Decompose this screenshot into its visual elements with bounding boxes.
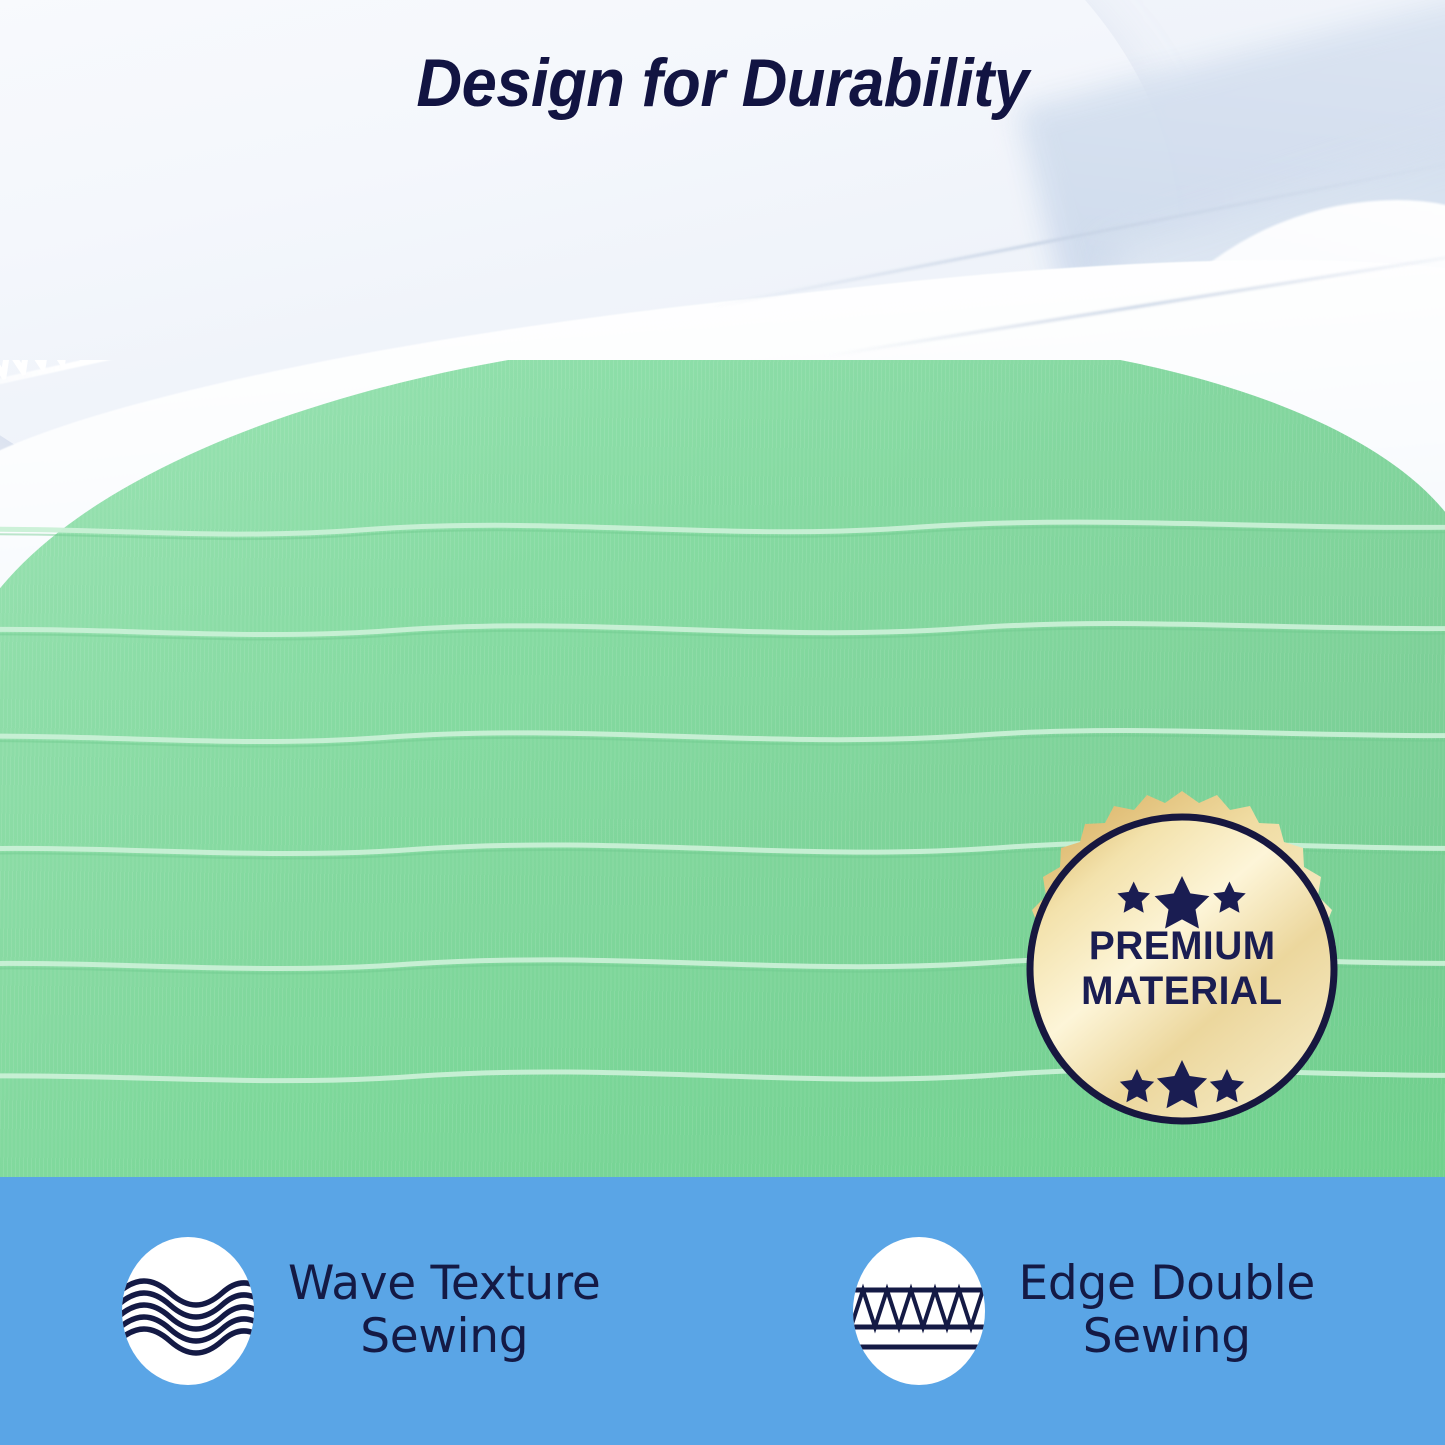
feature-label: Edge Double Sewing <box>1019 1258 1315 1363</box>
product-marketing-image: PREMIUM MATERIAL Design for Durability <box>0 0 1445 1445</box>
wave-lines-icon <box>122 1237 254 1385</box>
badge-seal-icon <box>1016 788 1348 1150</box>
feature-label: Wave Texture Sewing <box>288 1258 600 1363</box>
premium-material-badge: PREMIUM MATERIAL <box>1016 788 1348 1150</box>
page-title: Design for Durability <box>51 44 1395 122</box>
product-photo: PREMIUM MATERIAL Design for Durability <box>0 0 1445 1185</box>
zigzag-stitch-icon <box>853 1237 985 1385</box>
feature-item-wave-texture-sewing: Wave Texture Sewing <box>0 1237 723 1385</box>
feature-bar: Wave Texture Sewing Edge Double Sewing <box>0 1177 1445 1445</box>
feature-item-edge-double-sewing: Edge Double Sewing <box>723 1237 1445 1385</box>
